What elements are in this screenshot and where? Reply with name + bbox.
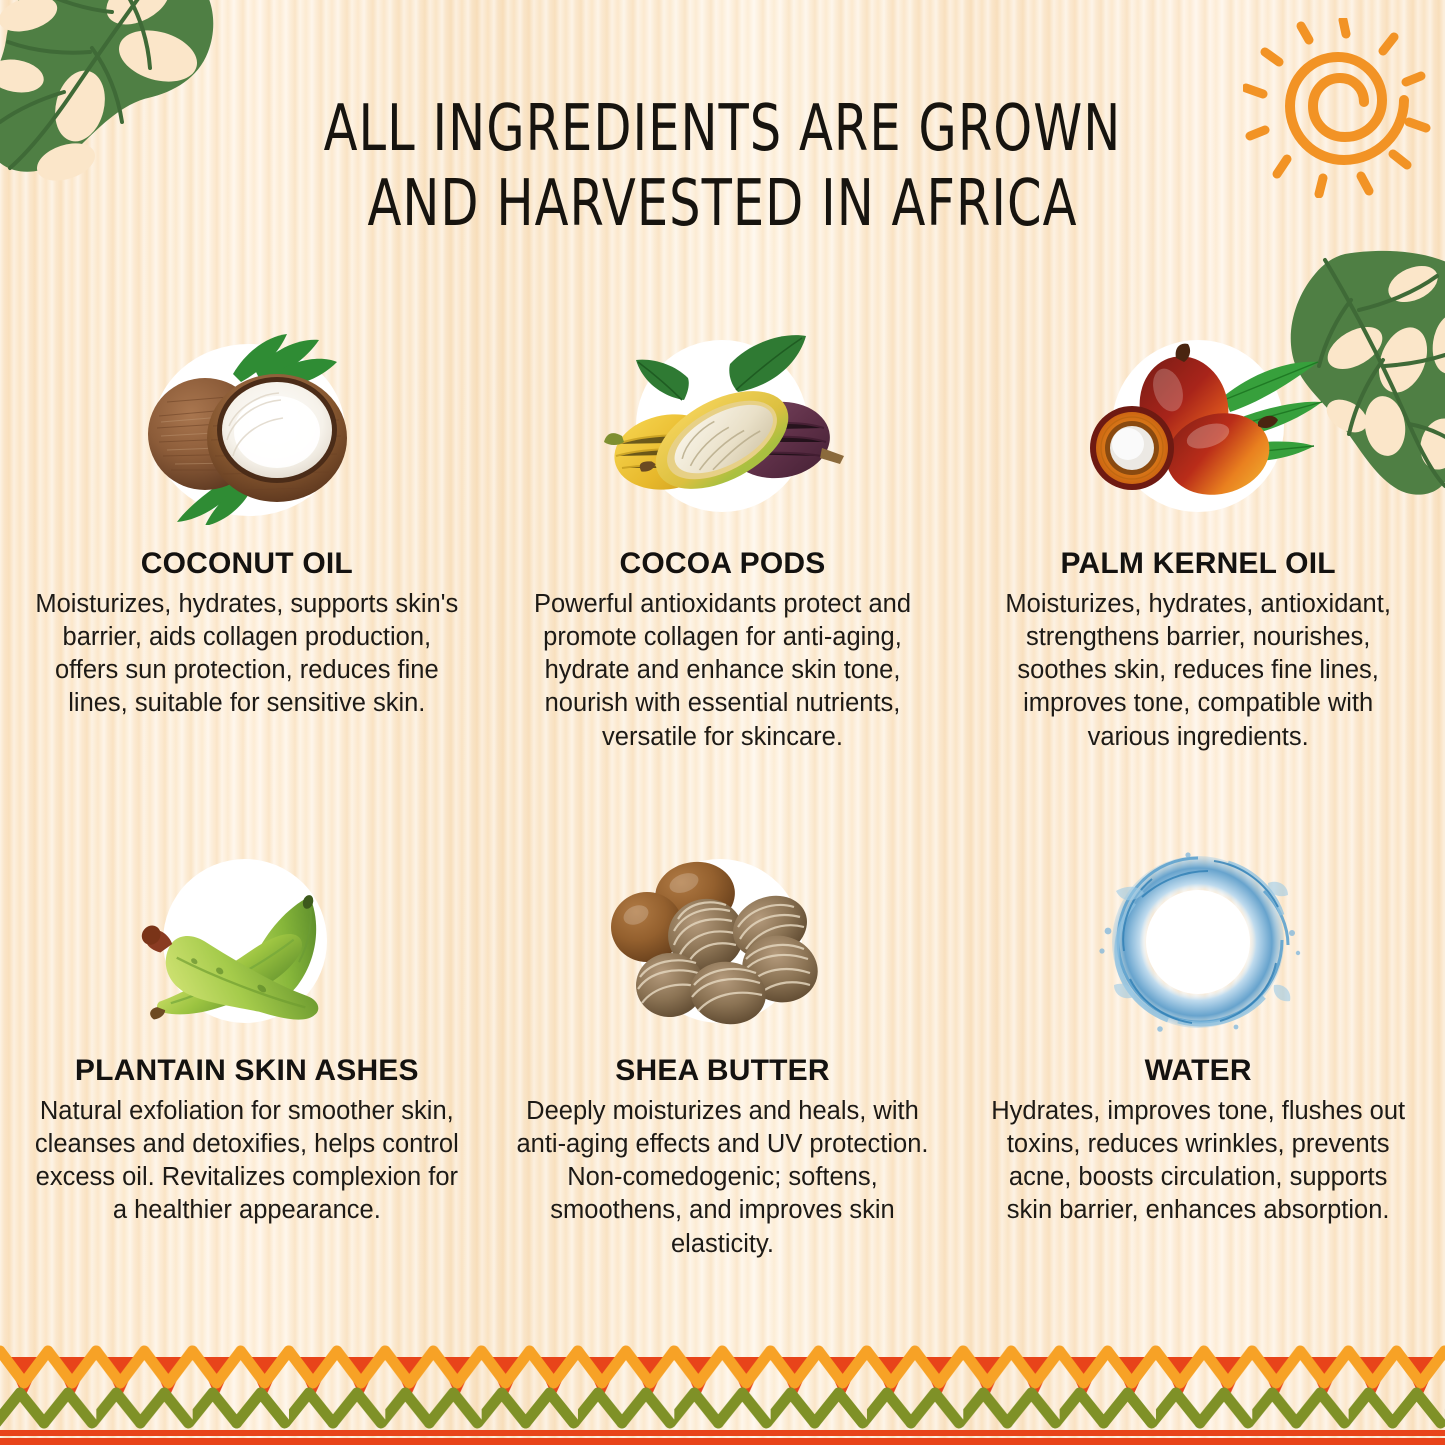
ingredient-card-cocoa-pods: COCOA PODS Powerful antioxidants protect… [490,330,956,754]
african-tribal-border-bottom [0,1327,1445,1445]
ingredient-description: Moisturizes, hydrates, supports skin's b… [32,588,462,721]
ingredient-description: Deeply moisturizes and heals, with anti-… [507,1095,937,1261]
ingredient-card-plantain-skin-ashes: PLANTAIN SKIN ASHES Natural exfoliation … [14,845,480,1261]
ingredient-title: PLANTAIN SKIN ASHES [75,1054,419,1088]
ingredient-title: PALM KERNEL OIL [1061,547,1336,581]
palm-fruit-photo-icon [979,330,1417,525]
ingredient-title: WATER [1145,1054,1252,1088]
ingredients-grid-row-2: PLANTAIN SKIN ASHES Natural exfoliation … [14,845,1431,1261]
ingredient-card-water: WATER Hydrates, improves tone, flushes o… [965,845,1431,1261]
ingredient-description: Powerful antioxidants protect and promot… [507,588,937,754]
ingredient-description: Hydrates, improves tone, flushes out tox… [983,1095,1413,1228]
plantain-photo-icon [28,845,466,1040]
page-title-wrap: ALL INGREDIENTS ARE GROWN AND HARVESTED … [0,92,1445,242]
ingredient-title: COCOA PODS [620,547,826,581]
ingredients-infographic: ALL INGREDIENTS ARE GROWN AND HARVESTED … [0,0,1445,1445]
ingredient-title: SHEA BUTTER [615,1054,829,1088]
ingredient-card-coconut-oil: COCONUT OIL Moisturizes, hydrates, suppo… [14,330,480,754]
ingredients-grid: COCONUT OIL Moisturizes, hydrates, suppo… [14,330,1431,754]
ingredient-description: Moisturizes, hydrates, antioxidant, stre… [983,588,1413,754]
page-title: ALL INGREDIENTS ARE GROWN AND HARVESTED … [101,92,1344,242]
coconut-photo-icon [28,330,466,525]
cocoa-pods-photo-icon [504,330,942,525]
water-splash-photo-icon [979,845,1417,1040]
ingredient-card-palm-kernel-oil: PALM KERNEL OIL Moisturizes, hydrates, a… [965,330,1431,754]
ingredient-title: COCONUT OIL [141,547,353,581]
ingredient-card-shea-butter: SHEA BUTTER Deeply moisturizes and heals… [490,845,956,1261]
shea-nuts-photo-icon [504,845,942,1040]
ingredient-description: Natural exfoliation for smoother skin, c… [32,1095,462,1228]
